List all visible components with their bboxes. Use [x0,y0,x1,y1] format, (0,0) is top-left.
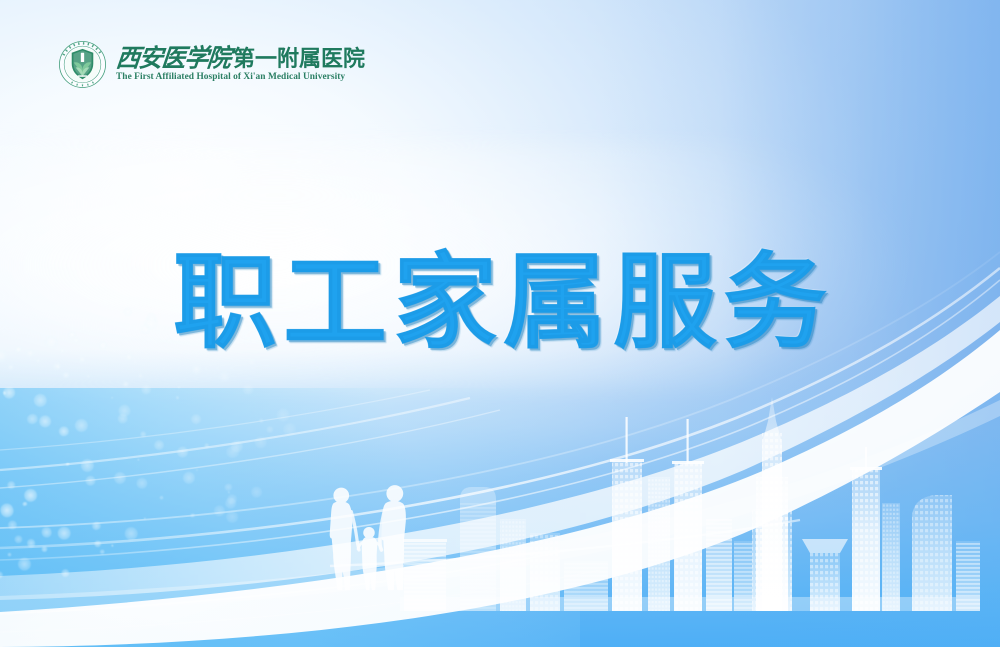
hospital-emblem-icon [58,40,107,89]
hospital-name-script: 西安医学院 [115,47,232,72]
bottom-left-cyan-wash [0,388,580,647]
hospital-logo: 西安医学院 第一附属医院 The First Affiliated Hospit… [58,40,365,89]
hospital-name-block: 西安医学院 第一附属医院 The First Affiliated Hospit… [116,46,365,83]
presentation-slide: 西安医学院 第一附属医院 The First Affiliated Hospit… [0,0,1000,647]
hospital-name-regular: 第一附属医院 [233,48,365,71]
hospital-name-english: The First Affiliated Hospital of Xi'an M… [116,72,365,83]
hospital-name-chinese: 西安医学院 第一附属医院 [116,46,365,71]
